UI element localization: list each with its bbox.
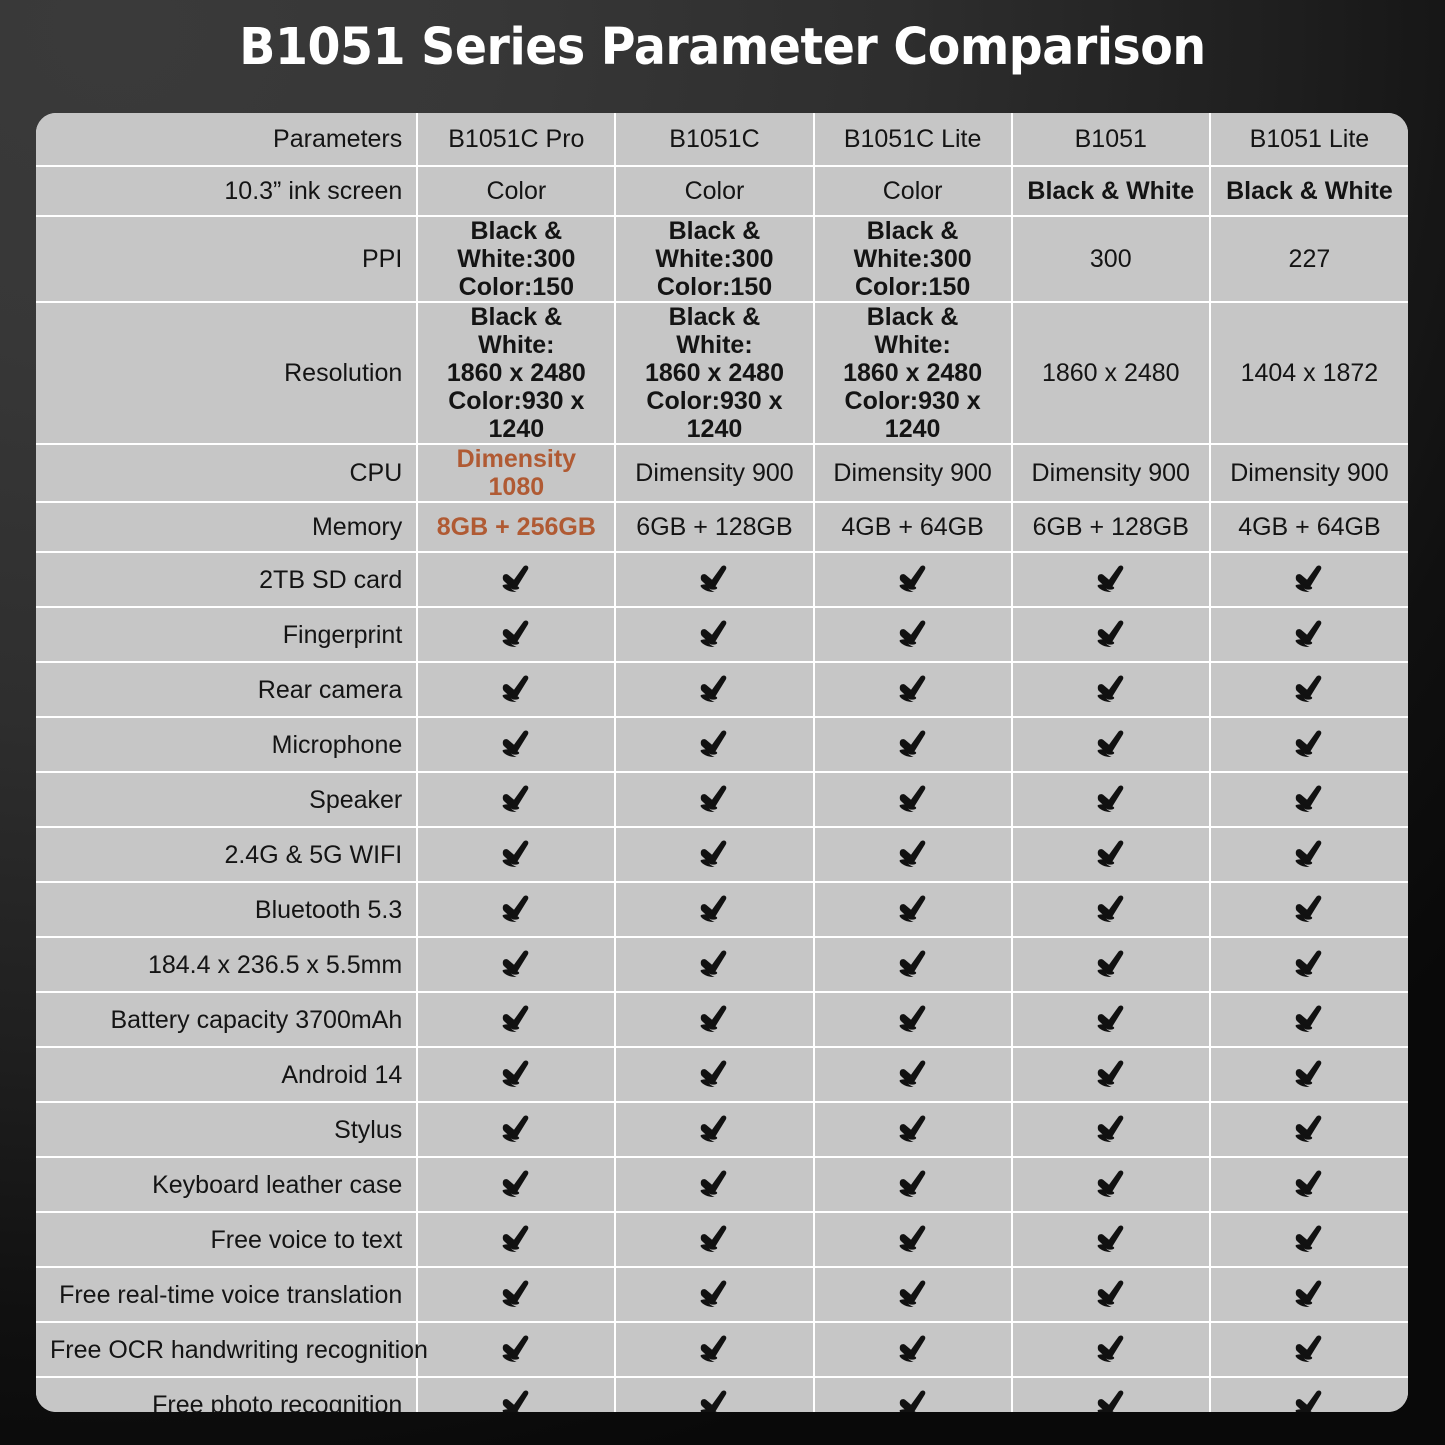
checkmark-icon — [630, 1268, 798, 1321]
cell-check — [1012, 1377, 1210, 1412]
cell-check — [417, 1322, 615, 1377]
checkmark-icon — [432, 773, 600, 826]
row-label: Microphone — [36, 717, 417, 772]
cell-check — [1012, 1267, 1210, 1322]
cell-line: 1860 x 2480 — [432, 359, 600, 387]
row-label: CPU — [36, 444, 417, 502]
checkmark-icon — [630, 938, 798, 991]
cell-value: Color — [417, 166, 615, 216]
cell-check — [417, 1157, 615, 1212]
cell-check — [417, 1377, 615, 1412]
row-label: PPI — [36, 216, 417, 302]
checkmark-icon — [432, 1268, 600, 1321]
checkmark-icon — [1225, 1048, 1394, 1101]
checkmark-icon — [630, 828, 798, 881]
cell-check — [1210, 992, 1408, 1047]
cell-check — [814, 717, 1012, 772]
checkmark-icon — [1225, 553, 1394, 606]
cell-check — [814, 882, 1012, 937]
table-row: PPIBlack & White:300Color:150Black & Whi… — [36, 216, 1408, 302]
cell-check — [615, 607, 813, 662]
table-header-row: ParametersB1051C ProB1051CB1051C LiteB10… — [36, 113, 1408, 166]
cell-check — [417, 662, 615, 717]
cell-check — [814, 772, 1012, 827]
checkmark-icon — [1027, 1158, 1195, 1211]
checkmark-icon — [829, 773, 997, 826]
checkmark-icon — [829, 1378, 997, 1412]
cell-line: 1860 x 2480 — [829, 359, 997, 387]
cell-check — [615, 1047, 813, 1102]
cell-check — [1210, 1267, 1408, 1322]
cell-value: 4GB + 64GB — [814, 502, 1012, 552]
column-header-clite: B1051C Lite — [814, 113, 1012, 166]
checkmark-icon — [1027, 1103, 1195, 1156]
cell-check — [615, 772, 813, 827]
checkmark-icon — [829, 1048, 997, 1101]
checkmark-icon — [829, 938, 997, 991]
cell-value: Dimensity 1080 — [417, 444, 615, 502]
cell-check — [1210, 772, 1408, 827]
cell-line: 1404 x 1872 — [1225, 359, 1394, 387]
checkmark-icon — [829, 1213, 997, 1266]
cell-value: Black & White:1860 x 2480Color:930 x 124… — [615, 302, 813, 444]
cell-value: Black & White:300Color:150 — [814, 216, 1012, 302]
cell-check — [1210, 1322, 1408, 1377]
checkmark-icon — [630, 718, 798, 771]
checkmark-icon — [1225, 1378, 1394, 1412]
checkmark-icon — [1027, 993, 1195, 1046]
checkmark-icon — [432, 883, 600, 936]
cell-check — [1012, 1212, 1210, 1267]
cell-line: Black & White: — [432, 303, 600, 359]
checkmark-icon — [1027, 1378, 1195, 1412]
checkmark-icon — [1225, 718, 1394, 771]
cell-line: Color:930 x 1240 — [829, 387, 997, 443]
checkmark-icon — [1027, 1213, 1195, 1266]
cell-check — [1210, 662, 1408, 717]
cell-value: Dimensity 900 — [615, 444, 813, 502]
cell-check — [1210, 937, 1408, 992]
cell-check — [814, 1102, 1012, 1157]
cell-value: 300 — [1012, 216, 1210, 302]
cell-value: Black & White — [1012, 166, 1210, 216]
checkmark-icon — [1225, 1268, 1394, 1321]
cell-check — [417, 1047, 615, 1102]
cell-check — [615, 1102, 813, 1157]
checkmark-icon — [630, 883, 798, 936]
cell-value: Black & White:300Color:150 — [417, 216, 615, 302]
checkmark-icon — [1225, 993, 1394, 1046]
table-row: Rear camera — [36, 662, 1408, 717]
checkmark-icon — [1027, 938, 1195, 991]
cell-check — [814, 1047, 1012, 1102]
cell-line: 300 — [1027, 245, 1195, 273]
checkmark-icon — [1225, 938, 1394, 991]
checkmark-icon — [1225, 1103, 1394, 1156]
cell-check — [1012, 1102, 1210, 1157]
cell-value: Black & White:1860 x 2480Color:930 x 124… — [814, 302, 1012, 444]
checkmark-icon — [829, 608, 997, 661]
parameter-comparison-table: ParametersB1051C ProB1051CB1051C LiteB10… — [36, 113, 1408, 1412]
cell-check — [417, 717, 615, 772]
cell-check — [615, 1377, 813, 1412]
cell-check — [1210, 827, 1408, 882]
checkmark-icon — [432, 993, 600, 1046]
checkmark-icon — [1225, 663, 1394, 716]
checkmark-icon — [829, 993, 997, 1046]
table-row: Bluetooth 5.3 — [36, 882, 1408, 937]
row-label: Resolution — [36, 302, 417, 444]
cell-check — [417, 1212, 615, 1267]
checkmark-icon — [432, 663, 600, 716]
cell-value: 6GB + 128GB — [615, 502, 813, 552]
cell-value: Color — [814, 166, 1012, 216]
cell-check — [814, 992, 1012, 1047]
checkmark-icon — [829, 1268, 997, 1321]
table-row: Memory8GB + 256GB6GB + 128GB4GB + 64GB6G… — [36, 502, 1408, 552]
row-label: 10.3” ink screen — [36, 166, 417, 216]
checkmark-icon — [630, 553, 798, 606]
cell-check — [615, 882, 813, 937]
cell-check — [417, 1102, 615, 1157]
cell-check — [1012, 717, 1210, 772]
cell-line: 1860 x 2480 — [630, 359, 798, 387]
checkmark-icon — [1027, 718, 1195, 771]
cell-value: Dimensity 900 — [1012, 444, 1210, 502]
checkmark-icon — [630, 773, 798, 826]
table-row: Fingerprint — [36, 607, 1408, 662]
checkmark-icon — [1225, 828, 1394, 881]
checkmark-icon — [630, 1158, 798, 1211]
column-header-c: B1051C — [615, 113, 813, 166]
checkmark-icon — [432, 1378, 600, 1412]
cell-line: Color:150 — [432, 273, 600, 301]
cell-check — [1012, 992, 1210, 1047]
cell-value: Black & White:300Color:150 — [615, 216, 813, 302]
cell-value: Black & White — [1210, 166, 1408, 216]
checkmark-icon — [1027, 1048, 1195, 1101]
row-label: Stylus — [36, 1102, 417, 1157]
cell-check — [1210, 1377, 1408, 1412]
table-row: Stylus — [36, 1102, 1408, 1157]
cell-value: 227 — [1210, 216, 1408, 302]
cell-check — [814, 827, 1012, 882]
checkmark-icon — [1027, 773, 1195, 826]
row-label: Fingerprint — [36, 607, 417, 662]
row-label: Battery capacity 3700mAh — [36, 992, 417, 1047]
cell-check — [814, 552, 1012, 607]
comparison-page: B1051 Series Parameter Comparison Parame… — [0, 0, 1445, 1445]
cell-value: Black & White:1860 x 2480Color:930 x 124… — [417, 302, 615, 444]
table-row: Android 14 — [36, 1047, 1408, 1102]
cell-value: Dimensity 900 — [814, 444, 1012, 502]
checkmark-icon — [1027, 608, 1195, 661]
checkmark-icon — [432, 718, 600, 771]
checkmark-icon — [1225, 1213, 1394, 1266]
cell-value: 1404 x 1872 — [1210, 302, 1408, 444]
table-row: 10.3” ink screenColorColorColorBlack & W… — [36, 166, 1408, 216]
table-row: Microphone — [36, 717, 1408, 772]
cell-check — [417, 882, 615, 937]
cell-line: 227 — [1225, 245, 1394, 273]
table-row: Free photo recognition — [36, 1377, 1408, 1412]
checkmark-icon — [630, 1378, 798, 1412]
checkmark-icon — [432, 1048, 600, 1101]
checkmark-icon — [1027, 883, 1195, 936]
cell-line: Color:150 — [829, 273, 997, 301]
table-row: Speaker — [36, 772, 1408, 827]
checkmark-icon — [829, 663, 997, 716]
cell-line: 1860 x 2480 — [1027, 359, 1195, 387]
cell-check — [615, 827, 813, 882]
cell-check — [1012, 882, 1210, 937]
table-row: ResolutionBlack & White:1860 x 2480Color… — [36, 302, 1408, 444]
checkmark-icon — [829, 883, 997, 936]
cell-check — [1210, 1047, 1408, 1102]
cell-value: 1860 x 2480 — [1012, 302, 1210, 444]
comparison-table-card: ParametersB1051C ProB1051CB1051C LiteB10… — [36, 113, 1408, 1412]
cell-check — [1012, 772, 1210, 827]
checkmark-icon — [630, 663, 798, 716]
cell-check — [1012, 1047, 1210, 1102]
cell-check — [615, 1157, 813, 1212]
cell-check — [1210, 552, 1408, 607]
table-row: Free real-time voice translation — [36, 1267, 1408, 1322]
checkmark-icon — [1027, 553, 1195, 606]
cell-check — [1210, 717, 1408, 772]
checkmark-icon — [1027, 1323, 1195, 1376]
checkmark-icon — [829, 1323, 997, 1376]
table-row: CPUDimensity 1080Dimensity 900Dimensity … — [36, 444, 1408, 502]
cell-check — [417, 607, 615, 662]
cell-line: Black & White:300 — [630, 217, 798, 273]
checkmark-icon — [1225, 1158, 1394, 1211]
checkmark-icon — [630, 608, 798, 661]
cell-check — [814, 662, 1012, 717]
cell-line: Black & White:300 — [829, 217, 997, 273]
cell-check — [814, 1267, 1012, 1322]
column-header-b: B1051 — [1012, 113, 1210, 166]
cell-check — [615, 1212, 813, 1267]
cell-check — [1012, 552, 1210, 607]
cell-check — [1210, 607, 1408, 662]
cell-check — [1012, 937, 1210, 992]
cell-line: Color:930 x 1240 — [630, 387, 798, 443]
checkmark-icon — [829, 1103, 997, 1156]
cell-check — [1012, 827, 1210, 882]
cell-check — [814, 1377, 1012, 1412]
row-label: Speaker — [36, 772, 417, 827]
checkmark-icon — [829, 828, 997, 881]
cell-check — [417, 552, 615, 607]
checkmark-icon — [432, 828, 600, 881]
cell-check — [417, 827, 615, 882]
row-label: Free photo recognition — [36, 1377, 417, 1412]
checkmark-icon — [1027, 1268, 1195, 1321]
page-title: B1051 Series Parameter Comparison — [51, 18, 1395, 77]
cell-value: Color — [615, 166, 813, 216]
checkmark-icon — [630, 1103, 798, 1156]
checkmark-icon — [1027, 663, 1195, 716]
cell-check — [417, 1267, 615, 1322]
cell-check — [417, 772, 615, 827]
table-row: Free voice to text — [36, 1212, 1408, 1267]
cell-line: Black & White: — [630, 303, 798, 359]
table-row: Free OCR handwriting recognition — [36, 1322, 1408, 1377]
checkmark-icon — [829, 553, 997, 606]
cell-check — [615, 717, 813, 772]
cell-check — [1210, 1157, 1408, 1212]
cell-check — [1012, 607, 1210, 662]
checkmark-icon — [432, 553, 600, 606]
row-label: Keyboard leather case — [36, 1157, 417, 1212]
cell-value: Dimensity 900 — [1210, 444, 1408, 502]
column-header-blite: B1051 Lite — [1210, 113, 1408, 166]
cell-check — [615, 662, 813, 717]
checkmark-icon — [1225, 1323, 1394, 1376]
row-label: Free voice to text — [36, 1212, 417, 1267]
cell-check — [615, 552, 813, 607]
table-row: 2.4G & 5G WIFI — [36, 827, 1408, 882]
row-label: Bluetooth 5.3 — [36, 882, 417, 937]
cell-value: 4GB + 64GB — [1210, 502, 1408, 552]
table-row: 184.4 x 236.5 x 5.5mm — [36, 937, 1408, 992]
table-row: 2TB SD card — [36, 552, 1408, 607]
cell-check — [1012, 662, 1210, 717]
checkmark-icon — [1225, 608, 1394, 661]
row-label: Rear camera — [36, 662, 417, 717]
cell-value: 8GB + 256GB — [417, 502, 615, 552]
cell-check — [814, 1157, 1012, 1212]
row-label: Free OCR handwriting recognition — [36, 1322, 417, 1377]
table-body: ParametersB1051C ProB1051CB1051C LiteB10… — [36, 113, 1408, 1412]
row-label: 184.4 x 236.5 x 5.5mm — [36, 937, 417, 992]
checkmark-icon — [1027, 828, 1195, 881]
checkmark-icon — [432, 1103, 600, 1156]
cell-check — [615, 1267, 813, 1322]
cell-check — [615, 1322, 813, 1377]
checkmark-icon — [432, 608, 600, 661]
checkmark-icon — [432, 1323, 600, 1376]
cell-check — [814, 1322, 1012, 1377]
cell-line: Color:150 — [630, 273, 798, 301]
cell-line: Black & White: — [829, 303, 997, 359]
cell-check — [814, 607, 1012, 662]
row-label: Free real-time voice translation — [36, 1267, 417, 1322]
row-label: Android 14 — [36, 1047, 417, 1102]
cell-check — [615, 992, 813, 1047]
checkmark-icon — [432, 1213, 600, 1266]
cell-check — [417, 992, 615, 1047]
row-label: Memory — [36, 502, 417, 552]
checkmark-icon — [1225, 773, 1394, 826]
checkmark-icon — [432, 1158, 600, 1211]
cell-check — [615, 937, 813, 992]
cell-check — [1012, 1157, 1210, 1212]
checkmark-icon — [829, 718, 997, 771]
checkmark-icon — [1225, 883, 1394, 936]
table-row: Keyboard leather case — [36, 1157, 1408, 1212]
cell-value: 6GB + 128GB — [1012, 502, 1210, 552]
table-row: Battery capacity 3700mAh — [36, 992, 1408, 1047]
cell-check — [1210, 1212, 1408, 1267]
checkmark-icon — [630, 1213, 798, 1266]
cell-check — [1210, 1102, 1408, 1157]
cell-line: Black & White:300 — [432, 217, 600, 273]
cell-line: Color:930 x 1240 — [432, 387, 600, 443]
cell-check — [1210, 882, 1408, 937]
checkmark-icon — [630, 1048, 798, 1101]
checkmark-icon — [432, 938, 600, 991]
checkmark-icon — [630, 1323, 798, 1376]
column-header-pro: B1051C Pro — [417, 113, 615, 166]
checkmark-icon — [630, 993, 798, 1046]
row-label: 2.4G & 5G WIFI — [36, 827, 417, 882]
cell-check — [814, 1212, 1012, 1267]
column-header-param: Parameters — [36, 113, 417, 166]
cell-check — [417, 937, 615, 992]
row-label: 2TB SD card — [36, 552, 417, 607]
cell-check — [814, 937, 1012, 992]
cell-check — [1012, 1322, 1210, 1377]
checkmark-icon — [829, 1158, 997, 1211]
